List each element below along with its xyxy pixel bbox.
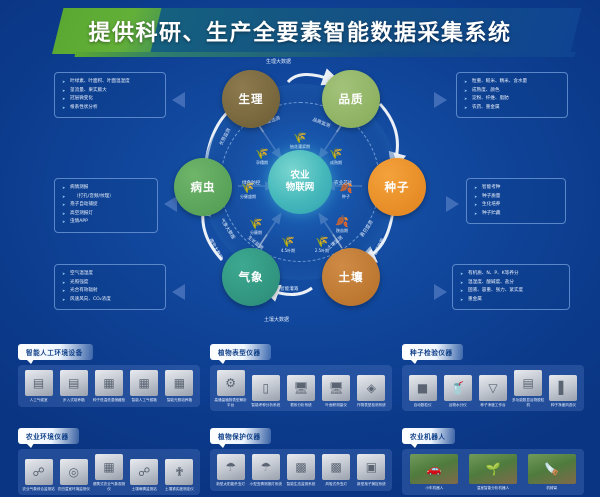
product-item[interactable]: ☍土壤墒情监测站 xyxy=(127,459,162,492)
robot-photo: 🌱 xyxy=(469,454,517,484)
cabinet-icon: ▦ xyxy=(130,370,158,396)
arrow-to-quality-box xyxy=(434,92,447,108)
lamp-icon: ☂ xyxy=(217,454,245,480)
infobox-item: 生化培养 xyxy=(474,201,559,210)
product-item[interactable]: ▩风吸式杀虫灯 xyxy=(319,454,354,487)
spoke-label: 农业芯片 xyxy=(334,180,352,186)
product-item[interactable]: ☂新型太阳能杀虫灯 xyxy=(213,454,248,487)
product-label: 农业气象综合监测站 xyxy=(21,487,56,492)
robot-photo: 🪚 xyxy=(528,454,576,484)
product-label: 新型太阳能杀虫灯 xyxy=(213,482,248,487)
product-section-seed-inspection: 种子检验仪器 ■自动数粒仪 🥤谷物水分仪 ▽种子净度工作台 ▤多功能数显谷物脱粒… xyxy=(402,340,584,411)
infobox-item: 高空测报灯 xyxy=(62,210,151,219)
arrow-to-seed-box xyxy=(446,196,459,212)
section-title: 农业机器人 xyxy=(402,428,455,444)
product-label: 自动数粒仪 xyxy=(405,403,440,408)
infobox-item: 固液、容重、张力、紧实度 xyxy=(460,287,563,296)
infobox-physiology: 叶绿素、叶面积、叶面温湿度 茎流量、果实膨大 冠层微变化 根系性状分析 xyxy=(54,72,166,118)
rice-icon: 🌾 xyxy=(236,218,276,230)
product-item[interactable]: ▤人工气候室 xyxy=(21,370,56,403)
product-item[interactable]: ▦种子低温低湿储藏柜 xyxy=(91,370,126,403)
arrow-to-soil-box xyxy=(434,284,447,300)
product-label: 智能光照培养箱 xyxy=(162,398,197,403)
stage-label: 分蘖期 xyxy=(250,230,262,235)
infobox-soil: 有机质、N、P、K等养分 温湿度、酸碱度、盐分 固液、容重、张力、紧实度 重金属 xyxy=(452,264,570,310)
infobox-item: 有机质、N、P、K等养分 xyxy=(460,270,563,279)
infobox-item: 种子质量 xyxy=(474,193,559,202)
product-label: 智能生态监测系统 xyxy=(283,482,318,487)
hub-quality[interactable]: 品质 xyxy=(322,70,380,128)
rice-icon: 🌾 xyxy=(242,148,282,160)
stage-label: 抽花灌浆期 xyxy=(290,144,310,149)
page-header: 提供科研、生产全要素智能数据采集系统 xyxy=(0,8,600,54)
stage-item: 🌾 分蘖期 xyxy=(236,218,276,236)
section-title: 植物保护仪器 xyxy=(210,428,271,444)
product-grid: ▤人工气候室 ▤步入式培养箱 ▦种子低温低湿储藏柜 ▦智能人工气候箱 ▦智能光照… xyxy=(18,365,200,407)
product-label: 便携式农业气象观测仪 xyxy=(91,482,126,491)
post-icon: ▩ xyxy=(287,454,315,480)
product-label: 叶面积测量仪 xyxy=(319,403,354,408)
infobox-item: 茎流量、果实膨大 xyxy=(62,87,159,96)
product-item[interactable]: 🖥叶面积测量仪 xyxy=(319,375,354,408)
chamber-icon: ▤ xyxy=(60,370,88,396)
product-item[interactable]: ◈作物表型检测系统 xyxy=(354,375,389,408)
hub-core-iot: 农业 物联网 xyxy=(268,150,332,214)
product-label: 根系分析系统 xyxy=(283,403,318,408)
product-grid: ⚙高通量植物表型解析平台 ▯智能考种分析系统 🖥根系分析系统 🖥叶面积测量仪 ◈… xyxy=(210,365,392,411)
cabinet-icon: ▦ xyxy=(95,370,123,396)
scanner-icon: ▯ xyxy=(252,375,280,401)
product-label: 智能人工气候箱 xyxy=(127,398,162,403)
product-item[interactable]: ⚙高通量植物表型解析平台 xyxy=(213,370,248,407)
station-icon: ☍ xyxy=(130,459,158,485)
machine-icon: ▤ xyxy=(514,370,542,396)
product-label: 多功能数显谷物脱粒机 xyxy=(511,398,546,407)
chamber-icon: ▤ xyxy=(25,370,53,396)
hub-seed[interactable]: 种子 xyxy=(368,158,426,216)
hub-pest[interactable]: 病虫 xyxy=(174,158,232,216)
product-label: 人工气候室 xyxy=(21,398,56,403)
product-item[interactable]: ▌种子净度风选仪 xyxy=(546,375,581,408)
infobox-item: 种子贮藏 xyxy=(474,210,559,219)
stage-label: 种子 xyxy=(342,194,350,199)
product-grid: ■自动数粒仪 🥤谷物水分仪 ▽种子净度工作台 ▤多功能数显谷物脱粒机 ▌种子净度… xyxy=(402,365,584,411)
product-item[interactable]: ▩智能生态监测系统 xyxy=(283,454,318,487)
product-item[interactable]: ☍农业气象综合监测站 xyxy=(21,459,56,492)
product-grid: 🚗小车机器人 🌱温室智能分析机器人 🪚机械臂 xyxy=(402,449,584,495)
product-grid: ☍农业气象综合监测站 ◎农田温室环境监测仪 ▦便携式农业气象观测仪 ☍土壤墒情监… xyxy=(18,449,200,495)
product-label: 农田温室环境监测仪 xyxy=(56,487,91,492)
product-label: 机械臂 xyxy=(522,486,581,491)
product-item[interactable]: ◎农田温室环境监测仪 xyxy=(56,459,91,492)
counter-icon: ■ xyxy=(409,375,437,401)
infobox-item: 光合有效辐射 xyxy=(62,287,159,296)
product-label: 土壤紧实度测定仪 xyxy=(162,487,197,492)
seed-icon: 🍂 xyxy=(322,216,362,228)
product-section-agri-environment: 农业环境仪器 ☍农业气象综合监测站 ◎农田温室环境监测仪 ▦便携式农业气象观测仪… xyxy=(18,424,200,495)
infobox-item: 成熟度、颜色 xyxy=(464,87,561,96)
lamp-icon: ☂ xyxy=(252,454,280,480)
product-item[interactable]: 🪚机械臂 xyxy=(522,454,581,491)
product-label: 种子净度风选仪 xyxy=(546,403,581,408)
product-label: 土壤墒情监测站 xyxy=(127,487,162,492)
stage-item: 🍂 秧苗期 xyxy=(322,216,362,234)
product-label: 温室智能分析机器人 xyxy=(464,486,523,491)
infobox-subitem: （打孔/音频/纹理） xyxy=(62,193,151,202)
infobox-item: 根系性状分析 xyxy=(62,104,159,113)
device-icon: ▣ xyxy=(357,454,385,480)
page-title: 提供科研、生产全要素智能数据采集系统 xyxy=(0,8,600,54)
monitor-icon: 🖥 xyxy=(322,375,350,401)
stage-label: 分蘖盛期 xyxy=(240,194,256,199)
infobox-item: 虫情APP xyxy=(62,218,151,227)
sensor-icon: ◈ xyxy=(357,375,385,401)
product-item[interactable]: ✟土壤紧实度测定仪 xyxy=(162,459,197,492)
infobox-item: 冠层微变化 xyxy=(62,95,159,104)
bottle-icon: 🥤 xyxy=(444,375,472,401)
product-label: 谷物水分仪 xyxy=(440,403,475,408)
product-label: 小型虫情测报灯系统 xyxy=(248,482,283,487)
infobox-item: 智能考种 xyxy=(474,184,559,193)
product-label: 种子净度工作台 xyxy=(475,403,510,408)
product-item[interactable]: ▤多功能数显谷物脱粒机 xyxy=(511,370,546,407)
hub-weather[interactable]: 气象 xyxy=(222,248,280,306)
product-label: 高通量植物表型解析平台 xyxy=(213,398,248,407)
product-section-plant-protection: 植物保护仪器 ☂新型太阳能杀虫灯 ☂小型虫情测报灯系统 ▩智能生态监测系统 ▩风… xyxy=(210,424,392,491)
stage-label: 孕穗期 xyxy=(256,160,268,165)
stage-label: 秧苗期 xyxy=(336,228,348,233)
rice-icon: 🌾 xyxy=(280,132,320,144)
infobox-item: 农药、重金属 xyxy=(464,104,561,113)
bigdata-label-top: 生理大数据 xyxy=(266,58,291,65)
product-item[interactable]: ☂小型虫情测报灯系统 xyxy=(248,454,283,487)
product-label: 新型孢子捕捉系统 xyxy=(354,482,389,487)
probe-icon: ✟ xyxy=(165,459,193,485)
platform-icon: ⚙ xyxy=(217,370,245,396)
robot-photo: 🚗 xyxy=(410,454,458,484)
product-item[interactable]: ▦便携式农业气象观测仪 xyxy=(91,454,126,491)
product-label: 种子低温低湿储藏柜 xyxy=(91,398,126,403)
portable-icon: ▦ xyxy=(95,454,123,480)
stage-label: 4.5叶期 xyxy=(281,248,295,253)
product-item[interactable]: ▯智能考种分析系统 xyxy=(248,375,283,408)
infobox-item: 光照强度 xyxy=(62,279,159,288)
core-label-line1: 农业 xyxy=(290,170,309,182)
poster-background: 提供科研、生产全要素智能数据采集系统 叶绿素、叶面积、叶面温湿度 茎流量、果实膨… xyxy=(0,0,600,497)
core-label-line2: 物联网 xyxy=(286,182,315,194)
product-item[interactable]: ▤步入式培养箱 xyxy=(56,370,91,403)
infobox-item: 孢子自动捕捉 xyxy=(62,201,151,210)
product-item[interactable]: ▣新型孢子捕捉系统 xyxy=(354,454,389,487)
product-item[interactable]: ■自动数粒仪 xyxy=(405,375,440,408)
station-icon: ☍ xyxy=(25,459,53,485)
post-icon: ▩ xyxy=(322,454,350,480)
column-icon: ▌ xyxy=(549,375,577,401)
product-item[interactable]: ▦智能光照培养箱 xyxy=(162,370,197,403)
infobox-seed: 智能考种 种子质量 生化培养 种子贮藏 xyxy=(466,178,566,224)
product-item[interactable]: ▽种子净度工作台 xyxy=(475,375,510,408)
monitor-icon: 🖥 xyxy=(287,375,315,401)
bigdata-label-bottom: 土壤大数据 xyxy=(264,316,289,323)
infobox-quality: 粒重、糙米、精米、含水量 成熟度、颜色 淀粉、纤维、脂肪 农药、重金属 xyxy=(456,72,568,118)
spoke-label: 智能灌溉 xyxy=(280,286,298,292)
infobox-item: 淀粉、纤维、脂肪 xyxy=(464,95,561,104)
product-item[interactable]: ▦智能人工气候箱 xyxy=(127,370,162,403)
product-item[interactable]: 🚗小车机器人 xyxy=(405,454,464,491)
product-grid: ☂新型太阳能杀虫灯 ☂小型虫情测报灯系统 ▩智能生态监测系统 ▩风吸式杀虫灯 ▣… xyxy=(210,449,392,491)
arrow-to-pest-box xyxy=(164,196,177,212)
infobox-item: 空气温湿度 xyxy=(62,270,159,279)
product-label: 风吸式杀虫灯 xyxy=(319,482,354,487)
infobox-item: 重金属 xyxy=(460,296,563,305)
stage-label: 成熟期 xyxy=(330,160,342,165)
product-label: 智能考种分析系统 xyxy=(248,403,283,408)
infobox-item: 病情测报 xyxy=(62,184,151,193)
product-label: 作物表型检测系统 xyxy=(354,403,389,408)
hub-soil[interactable]: 土壤 xyxy=(322,248,380,306)
infobox-item: 风速风向、CO₂浓度 xyxy=(62,296,159,305)
product-item[interactable]: 🖥根系分析系统 xyxy=(283,375,318,408)
infobox-item: 叶绿素、叶面积、叶面温湿度 xyxy=(62,78,159,87)
cabinet-icon: ▦ xyxy=(165,370,193,396)
infobox-pest: 病情测报 （打孔/音频/纹理） 孢子自动捕捉 高空测报灯 虫情APP xyxy=(54,178,158,233)
hub-physiology[interactable]: 生理 xyxy=(222,70,280,128)
product-item[interactable]: 🌱温室智能分析机器人 xyxy=(464,454,523,491)
infobox-weather: 空气温湿度 光照强度 光合有效辐射 风速风向、CO₂浓度 xyxy=(54,264,166,310)
product-label: 小车机器人 xyxy=(405,486,464,491)
section-title: 种子检验仪器 xyxy=(402,344,463,360)
bench-icon: ▽ xyxy=(479,375,507,401)
iot-cycle-diagram: 生理大数据 土壤大数据 🌾 抽花灌浆期 🌾 孕穗期 🌾 成熟期 🌾 分蘖盛期 🌾… xyxy=(180,58,420,330)
section-title: 智能人工环境设备 xyxy=(18,344,93,360)
product-item[interactable]: 🥤谷物水分仪 xyxy=(440,375,475,408)
sensors-icon: ◎ xyxy=(60,459,88,485)
section-title: 农业环境仪器 xyxy=(18,428,79,444)
infobox-item: 温湿度、酸碱度、盐分 xyxy=(460,279,563,288)
product-label: 步入式培养箱 xyxy=(56,398,91,403)
infobox-item: 粒重、糙米、精米、含水量 xyxy=(464,78,561,87)
section-title: 植物表型仪器 xyxy=(210,344,271,360)
product-section-phenotyping: 植物表型仪器 ⚙高通量植物表型解析平台 ▯智能考种分析系统 🖥根系分析系统 🖥叶… xyxy=(210,340,392,411)
stage-item: 🌾 抽花灌浆期 xyxy=(280,132,320,150)
product-section-agri-robots: 农业机器人 🚗小车机器人 🌱温室智能分析机器人 🪚机械臂 xyxy=(402,424,584,495)
product-section-smart-environment: 智能人工环境设备 ▤人工气候室 ▤步入式培养箱 ▦种子低温低湿储藏柜 ▦智能人工… xyxy=(18,340,200,407)
spoke-label: 绿色防控 xyxy=(242,180,260,186)
